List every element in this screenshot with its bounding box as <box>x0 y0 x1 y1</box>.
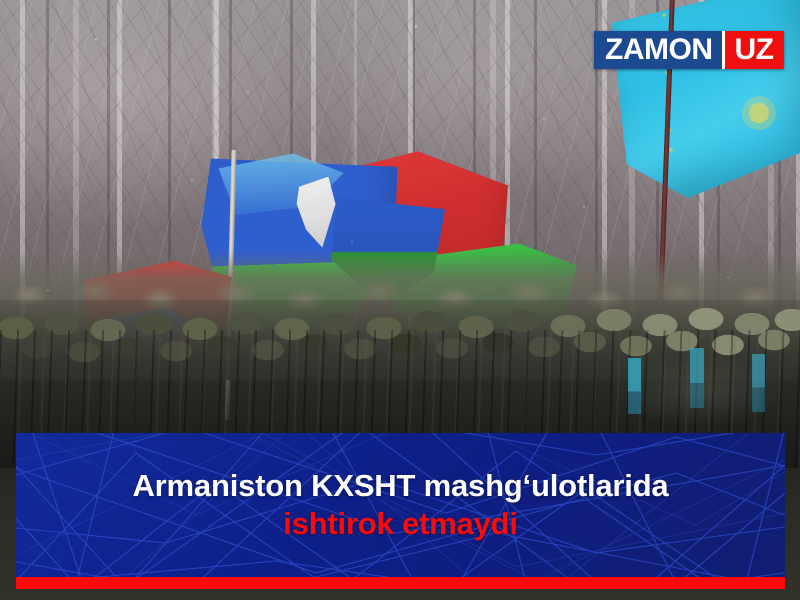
red-accent-bar <box>16 577 785 589</box>
headline-text-group: Armaniston KXSHT mashg‘ulotlarida ishtir… <box>16 433 785 577</box>
headline-line-2: ishtirok etmaydi <box>283 506 518 542</box>
logo-accent-text: UZ <box>722 31 784 69</box>
zamon-uz-logo[interactable]: ZAMON UZ <box>594 31 784 69</box>
headline-line-1: Armaniston KXSHT mashg‘ulotlarida <box>133 468 669 504</box>
news-card: ZAMON UZ <box>0 0 800 600</box>
logo-primary-text: ZAMON <box>594 31 722 69</box>
headline-banner: Armaniston KXSHT mashg‘ulotlarida ishtir… <box>16 433 785 577</box>
